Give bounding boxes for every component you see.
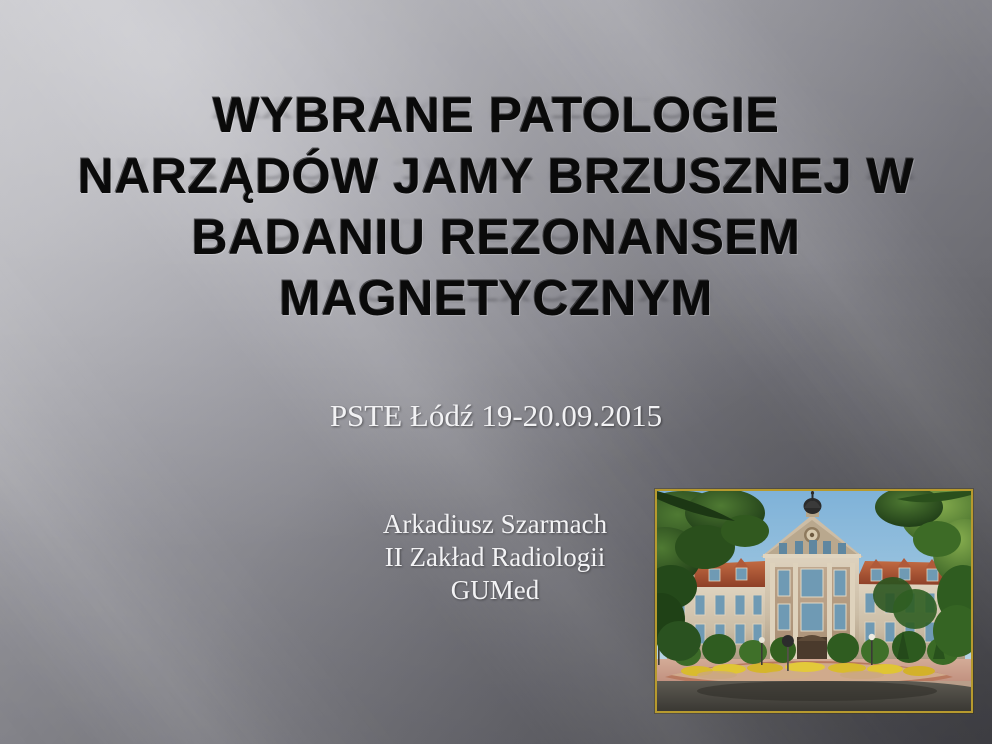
building-photo-inner <box>657 491 971 711</box>
title-line-1: WYBRANE PATOLOGIE <box>40 86 952 144</box>
title-slide: WYBRANE PATOLOGIE WYBRANE PATOLOGIE NARZ… <box>0 0 992 744</box>
slide-title: WYBRANE PATOLOGIE WYBRANE PATOLOGIE NARZ… <box>40 86 952 330</box>
title-line-1-wrap: WYBRANE PATOLOGIE WYBRANE PATOLOGIE <box>40 86 952 147</box>
title-line-2-wrap: NARZĄDÓW JAMY BRZUSZNEJ W NARZĄDÓW JAMY … <box>40 147 952 208</box>
title-line-4-wrap: MAGNETYCZNYM MAGNETYCZNYM <box>40 269 952 330</box>
building-photo <box>655 489 973 713</box>
title-line-3: BADANIU REZONANSEM <box>40 208 952 266</box>
title-line-2: NARZĄDÓW JAMY BRZUSZNEJ W <box>40 147 952 205</box>
title-line-3-wrap: BADANIU REZONANSEM BADANIU REZONANSEM <box>40 208 952 269</box>
building-photo-illustration <box>657 491 971 711</box>
title-line-4: MAGNETYCZNYM <box>40 269 952 327</box>
event-subtitle: PSTE Łódź 19-20.09.2015 <box>0 396 992 436</box>
